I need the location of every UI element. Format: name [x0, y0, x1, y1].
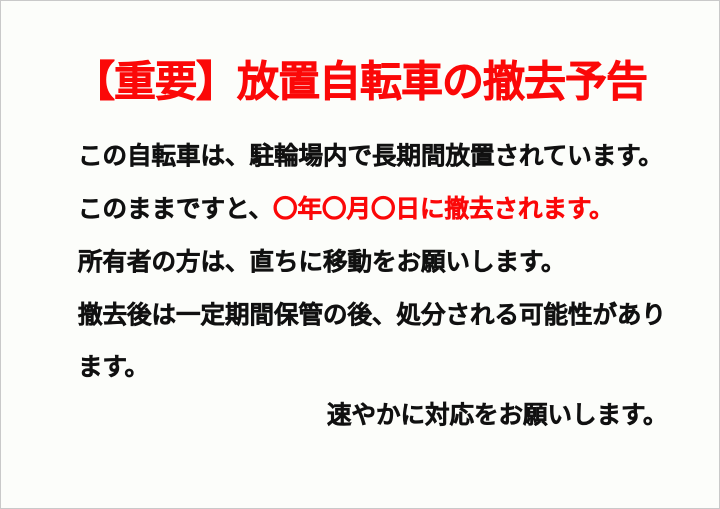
notice-body-line-4-text: 撤去後は一定期間保管の後、処分される可能性があり [78, 300, 666, 329]
notice-body-line-5: ます。 [78, 341, 678, 393]
notice-title: 【重要】放置自転車の撤去予告 [1, 57, 719, 107]
notice-body-line-2: このままですと、〇年〇月〇日に撤去されます。 [78, 182, 678, 235]
notice-page: 【重要】放置自転車の撤去予告 この自転車は、駐輪場内で長期間放置されています。 … [0, 0, 720, 509]
notice-body: この自転車は、駐輪場内で長期間放置されています。 このままですと、〇年〇月〇日に… [78, 129, 678, 393]
notice-body-line-1: この自転車は、駐輪場内で長期間放置されています。 [78, 129, 678, 182]
notice-removal-date-warning: 〇年〇月〇日に撤去されます。 [273, 194, 614, 223]
notice-body-line-3: 所有者の方は、直ちに移動をお願いします。 [78, 235, 678, 288]
notice-body-line-2-text-lead: このままですと、 [78, 194, 273, 223]
notice-closing-line: 速やかに対応をお願いします。 [327, 393, 668, 437]
notice-body-line-3-text: 所有者の方は、直ちに移動をお願いします。 [78, 247, 566, 276]
notice-footer-blank-area [1, 446, 719, 508]
notice-body-line-1-text: この自転車は、駐輪場内で長期間放置されています。 [78, 141, 663, 170]
notice-body-line-5-text: ます。 [78, 352, 149, 381]
notice-body-line-4: 撤去後は一定期間保管の後、処分される可能性があり [78, 288, 678, 341]
notice-content-area: 【重要】放置自転車の撤去予告 この自転車は、駐輪場内で長期間放置されています。 … [1, 1, 719, 508]
